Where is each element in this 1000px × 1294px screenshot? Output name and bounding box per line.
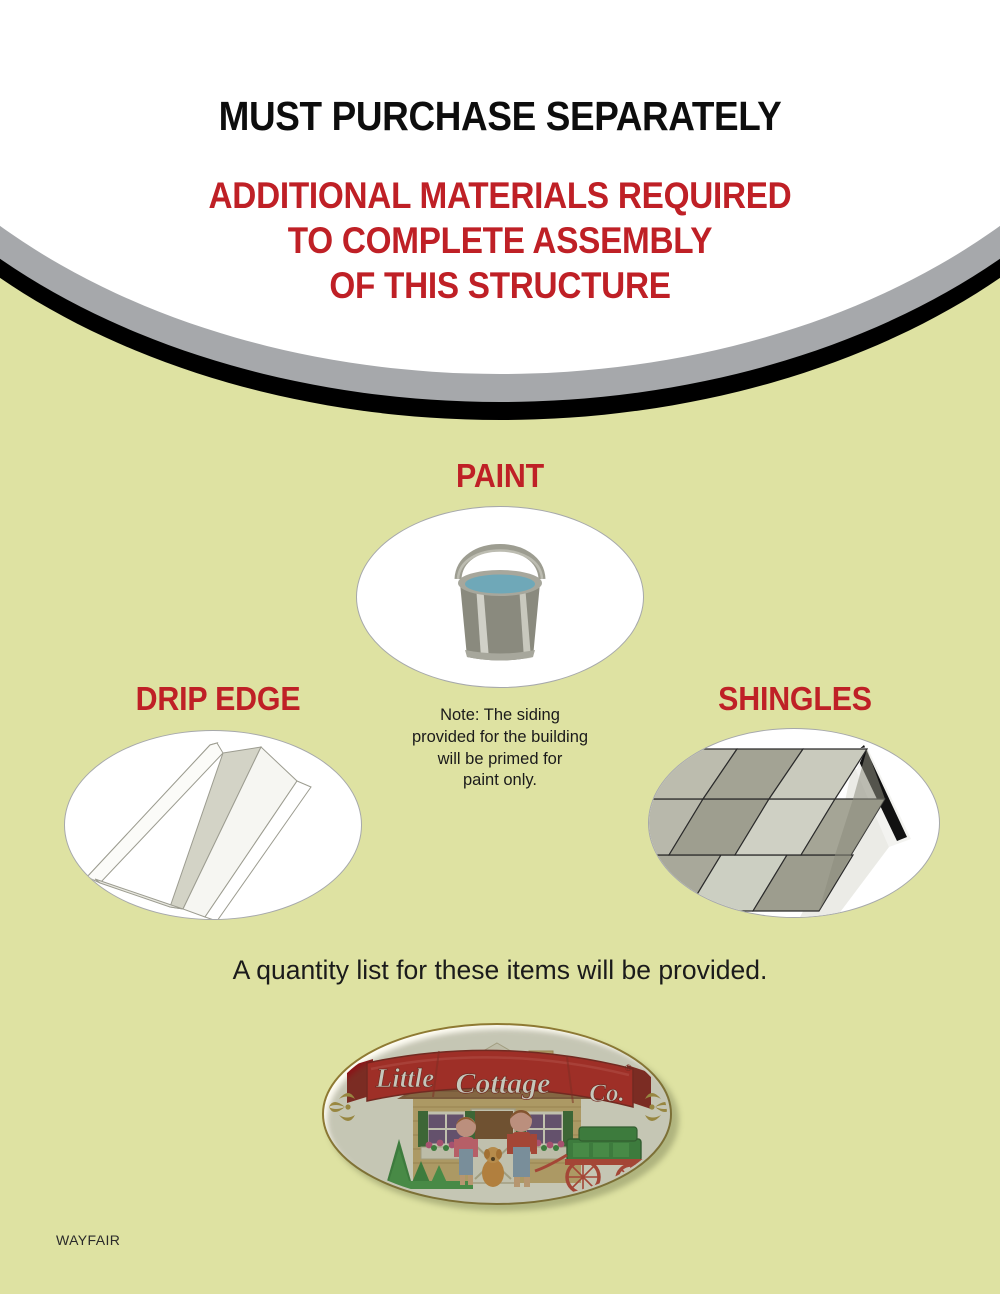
paint-label: PAINT [362, 457, 638, 495]
subtitle-line-2: TO COMPLETE ASSEMBLY [50, 218, 950, 263]
drip-edge-label: DRIP EDGE [71, 680, 365, 718]
paint-bucket-icon [420, 517, 580, 677]
note-line-3: will be primed for [368, 749, 632, 771]
wayfair-watermark: WAYFAIR [56, 1232, 120, 1248]
note-line-2: provided for the building [368, 727, 632, 749]
shingles-illustration-oval [648, 728, 940, 918]
materials-section: PAINT Note: The siding provided for the … [0, 440, 1000, 960]
drip-edge-angle-icon [65, 731, 362, 920]
logo-shadow [327, 1029, 679, 1211]
header-text-group: MUST PURCHASE SEPARATELY ADDITIONAL MATE… [0, 0, 1000, 308]
note-line-1: Note: The siding [368, 705, 632, 727]
shingles-label: SHINGLES [643, 680, 947, 718]
subtitle-line-3: OF THIS STRUCTURE [50, 263, 950, 308]
paint-illustration-oval [356, 506, 644, 688]
note-line-4: paint only. [368, 770, 632, 792]
drip-edge-illustration-oval [64, 730, 362, 920]
page-title: MUST PURCHASE SEPARATELY [50, 96, 950, 137]
paint-note: Note: The siding provided for the buildi… [368, 705, 632, 792]
page-subtitle: ADDITIONAL MATERIALS REQUIRED TO COMPLET… [50, 173, 950, 308]
little-cottage-co-logo: Little Cottage Co. ® [321, 1021, 679, 1211]
quantity-list-text: A quantity list for these items will be … [0, 955, 1000, 986]
roof-shingles-icon [649, 729, 940, 918]
header-banner: MUST PURCHASE SEPARATELY ADDITIONAL MATE… [0, 0, 1000, 430]
subtitle-line-1: ADDITIONAL MATERIALS REQUIRED [50, 173, 950, 218]
